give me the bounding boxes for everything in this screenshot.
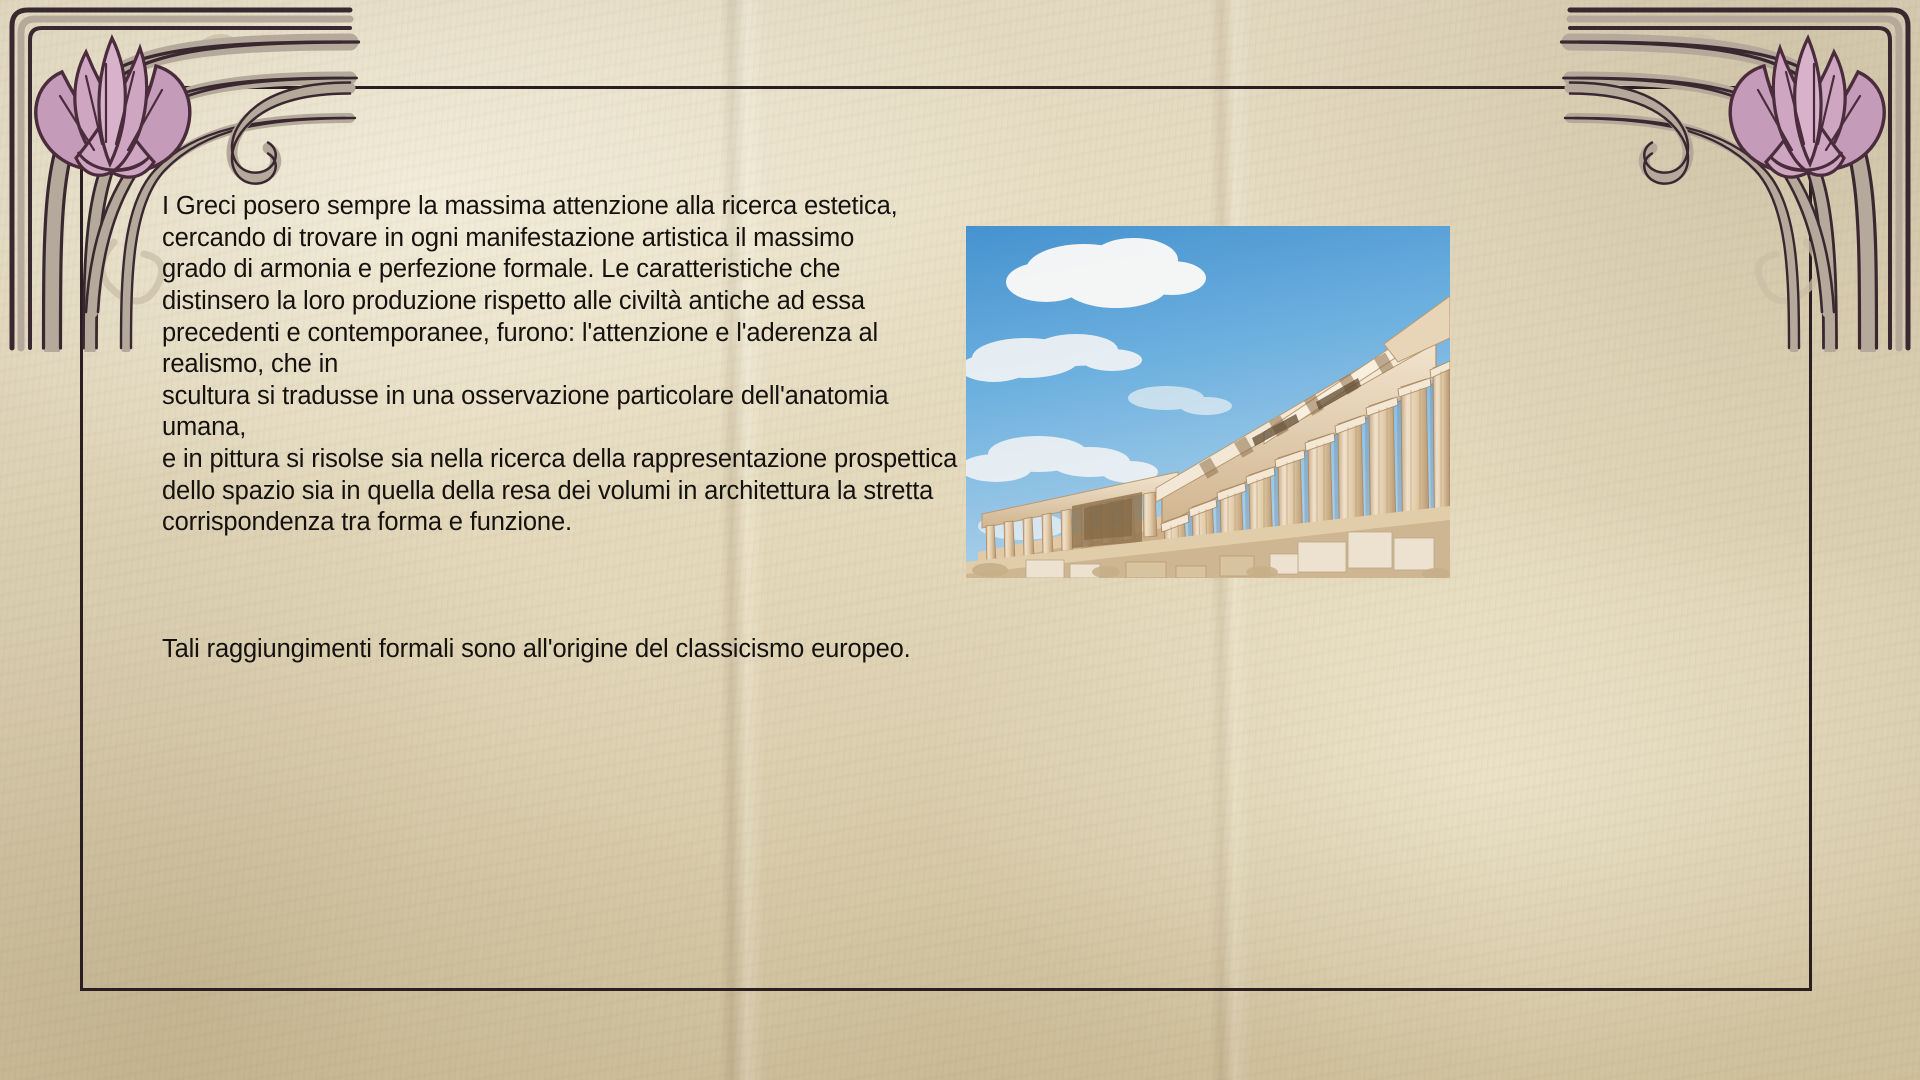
- frame-rule-right: [1809, 86, 1812, 991]
- corner-ornament-top-right-icon: [1556, 0, 1920, 352]
- frame-rule-bottom: [80, 988, 1812, 991]
- frame-rule-top: [80, 86, 1812, 89]
- lotus-flower-icon: [1730, 38, 1884, 177]
- paragraph-2: Tali raggiungimenti formali sono all'ori…: [162, 634, 962, 666]
- paragraph-1: I Greci posero sempre la massima attenzi…: [162, 191, 962, 539]
- parthenon-photo[interactable]: [966, 226, 1450, 578]
- slide-body-text: I Greci posero sempre la massima attenzi…: [162, 128, 962, 728]
- slide-canvas: I Greci posero sempre la massima attenzi…: [0, 0, 1920, 1080]
- frame-rule-left: [80, 86, 83, 991]
